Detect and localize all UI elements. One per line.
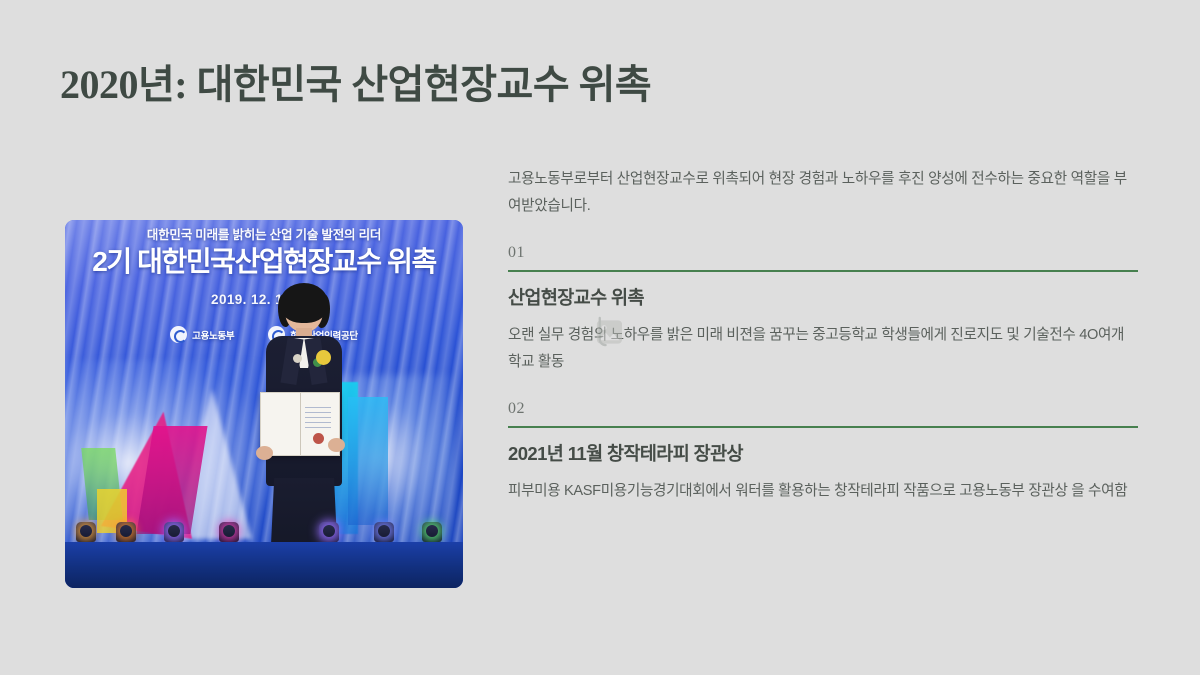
- intro-paragraph: 고용노동부로부터 산업현장교수로 위촉되어 현장 경험과 노하우를 후진 양성에…: [508, 166, 1138, 219]
- item-description: 오랜 실무 경험의 노하우를 밝은 미래 비젼을 꿈꾸는 중고등학교 학생들에게…: [508, 322, 1138, 375]
- hair: [280, 283, 328, 323]
- timeline-item-02: 02 2021년 11월 창작테라피 장관상 피부미용 KASF미용기능경기대회…: [508, 401, 1138, 505]
- item-number: 01: [508, 245, 1138, 261]
- item-title: 산업현장교수 위촉: [508, 286, 1138, 309]
- logo-ministry: 고용노동부: [170, 326, 234, 343]
- page-title: 2020년: 대한민국 산업현장교수 위촉: [60, 61, 651, 109]
- hand-right: [328, 438, 345, 452]
- banner-tagline: 대한민국 미래를 밝히는 산업 기술 발전의 리더: [65, 224, 463, 243]
- stage-floor: [65, 542, 463, 588]
- item-divider: [508, 426, 1138, 428]
- award-photo: 대한민국 미래를 밝히는 산업 기술 발전의 리더 2기 대한민국산업현장교수 …: [65, 220, 463, 588]
- hand-left: [256, 446, 273, 460]
- banner-headline: 2기 대한민국산업현장교수 위촉: [65, 247, 463, 276]
- award-photo-image: 대한민국 미래를 밝히는 산업 기술 발전의 리더 2기 대한민국산업현장교수 …: [65, 220, 463, 588]
- item-divider: [508, 270, 1138, 272]
- corsage-icon: [316, 350, 331, 365]
- item-number: 02: [508, 401, 1138, 417]
- certificate-text-lines: [305, 407, 331, 429]
- certificate-seal-icon: [313, 433, 324, 444]
- content-column: 고용노동부로부터 산업현장교수로 위촉되어 현장 경험과 노하우를 후진 양성에…: [508, 166, 1138, 505]
- logo-ministry-label: 고용노동부: [192, 328, 234, 342]
- item-title: 2021년 11월 창작테라피 장관상: [508, 442, 1138, 465]
- item-description: 피부미용 KASF미용기능경기대회에서 워터를 활용하는 창작테라피 작품으로 …: [508, 478, 1138, 505]
- ministry-emblem-icon: [170, 326, 187, 343]
- timeline-item-01: 01 산업현장교수 위촉 오랜 실무 경험의 노하우를 밝은 미래 비젼을 꿈꾸…: [508, 245, 1138, 375]
